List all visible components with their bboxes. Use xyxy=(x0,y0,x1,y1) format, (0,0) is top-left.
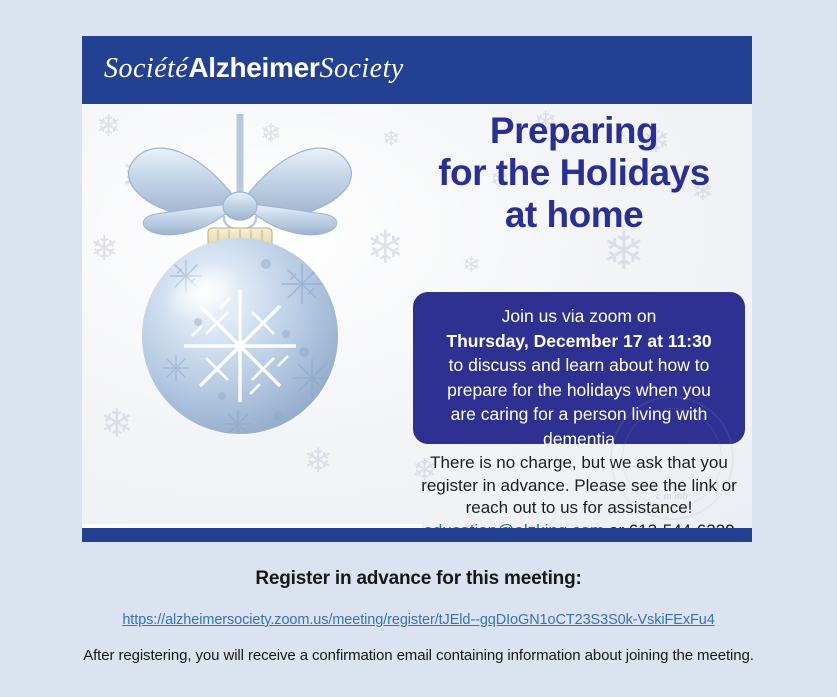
info-line-datetime: Thursday, December 17 at 11:30 xyxy=(425,329,733,354)
watermark-seal: c m mb xyxy=(610,396,734,520)
poster-body: ❄ ❄ ❄ ❄ ❄ ❄ ❄ ❄ ❄ ❄ ❄ ❄ ❄ ❄ ❄ ❄ xyxy=(82,104,752,528)
registration-url-link[interactable]: https://alzheimersociety.zoom.us/meeting… xyxy=(122,612,714,628)
snowflake-icon: ❄ xyxy=(462,254,480,276)
poster-footer-bar xyxy=(82,528,752,542)
info-line-3: to discuss and learn about how to xyxy=(425,353,733,378)
christmas-ornament-illustration xyxy=(90,106,390,466)
register-heading: Register in advance for this meeting: xyxy=(0,568,837,590)
logo-word-societe: Société xyxy=(104,53,188,84)
logo-word-society: Society xyxy=(319,53,403,84)
confirmation-note: After registering, you will receive a co… xyxy=(0,647,837,664)
logo-word-alzheimer: Alzheimer xyxy=(188,52,319,83)
contact-line-4: education@alzking.com or 613-544-6320 xyxy=(407,520,751,529)
seal-text: c m mb xyxy=(656,490,688,502)
phone-prefix: or xyxy=(604,521,629,529)
register-link-row: https://alzheimersociety.zoom.us/meeting… xyxy=(0,611,837,629)
title-line-1: Preparing xyxy=(402,110,746,152)
title-line-2: for the Holidays xyxy=(402,152,746,194)
poster-header-bar: SociétéAlzheimerSociety xyxy=(82,36,752,104)
poster-title: Preparing for the Holidays at home xyxy=(402,110,746,236)
chapter-logo-card: SociétéAlzheimerSociety KINGSTON, FRONTE… xyxy=(82,524,422,528)
info-line-1: Join us via zoom on xyxy=(425,304,733,329)
email-link[interactable]: education@alzking.com xyxy=(423,521,604,529)
event-poster: SociétéAlzheimerSociety ❄ ❄ ❄ ❄ ❄ ❄ ❄ ❄ … xyxy=(82,36,752,542)
organization-logo-header: SociétéAlzheimerSociety xyxy=(104,50,404,87)
title-line-3: at home xyxy=(402,194,746,236)
phone-number: 613-544-6320 xyxy=(629,521,735,529)
